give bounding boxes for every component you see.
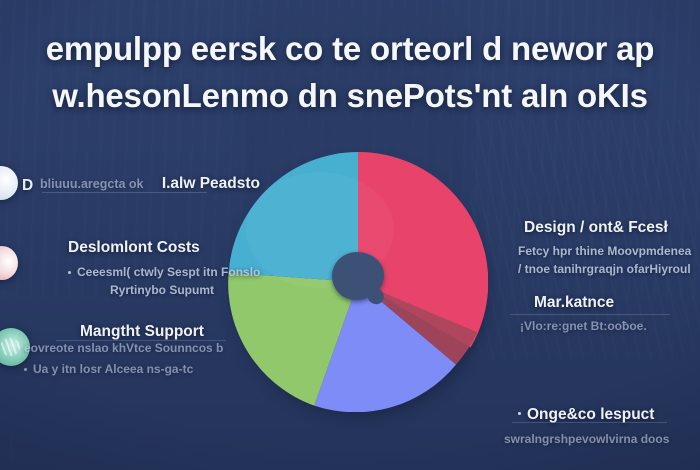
- top-left-label-block: Dbliuuu.aregcta ok I.alw Peadsto: [22, 174, 260, 193]
- ongoing-support-block: Mangtht Support: [80, 322, 204, 341]
- page-title-line-1: empulpp eersk co te orteorl d newor ap: [0, 26, 700, 73]
- marketing-bullet-1: ¡Vlo:re:gnet Bt:ooƀoe.: [520, 318, 647, 335]
- top-left-label-tail: I.alw Peadsto: [162, 175, 260, 192]
- top-left-label: Dbliuuu.aregcta ok I.alw Peadsto: [22, 174, 260, 193]
- design-front-end-bullet-2: / tnoe tanihrgraqjn ofarHiyroul: [518, 261, 691, 278]
- ongoing-support-title: Mangtht Support: [80, 322, 204, 341]
- bullet-dot-icon: [518, 412, 521, 415]
- pie-chart: [228, 152, 488, 412]
- design-front-end-bullet-1: Fetcy hpr thine Moovpmdenea: [518, 243, 691, 260]
- bullet-dot-icon: [24, 368, 27, 371]
- marketing-title: Mar.katnce: [534, 293, 647, 312]
- infographic-canvas: empulpp eersk co te orteorl d newor ap w…: [0, 0, 700, 470]
- development-costs-bullet-1: Ceeesml( ctwly Sespt itn Fonslo: [68, 264, 260, 281]
- page-title-line-2: w.hesonLenmo dn snePots'nt aIn oKIs: [0, 73, 700, 120]
- ongoing-impact-underline: [512, 422, 667, 423]
- development-costs-bullet-2: Ryrtinybo Supumt: [110, 282, 260, 299]
- bullet-dot-icon: [68, 271, 71, 274]
- ongoing-support-bullet-2: Ua y itn losr Alceea ns-ga-tc: [24, 361, 223, 378]
- ongoing-support-bullet-1: eovreote nslao khVtce Sounncos b: [24, 340, 223, 357]
- design-front-end-block: Design / ont& Fcesł Fetcy hpr thine Moov…: [524, 218, 691, 278]
- ongoing-impact-bullet-1: swralngrshpevowlvirna doos: [504, 431, 669, 448]
- ongoing-impact-block: Onge&co lespuct swralngrshpevowlvirna do…: [518, 405, 669, 449]
- page-title: empulpp eersk co te orteorl d newor ap w…: [0, 26, 700, 120]
- development-costs-block: Deslomlont Costs Ceeesml( ctwly Sespt it…: [68, 238, 260, 299]
- design-front-end-title: Design / ont& Fcesł: [524, 218, 691, 237]
- letter-d-glyph: D: [22, 176, 33, 189]
- development-costs-title: Deslomlont Costs: [68, 238, 260, 257]
- ongoing-support-bullets: eovreote nslao khVtce Sounncos b Ua y it…: [24, 340, 223, 379]
- top-left-underline: [42, 192, 207, 193]
- marketing-underline: [510, 314, 670, 315]
- top-left-label-text: bliuuu.aregcta ok: [40, 177, 144, 191]
